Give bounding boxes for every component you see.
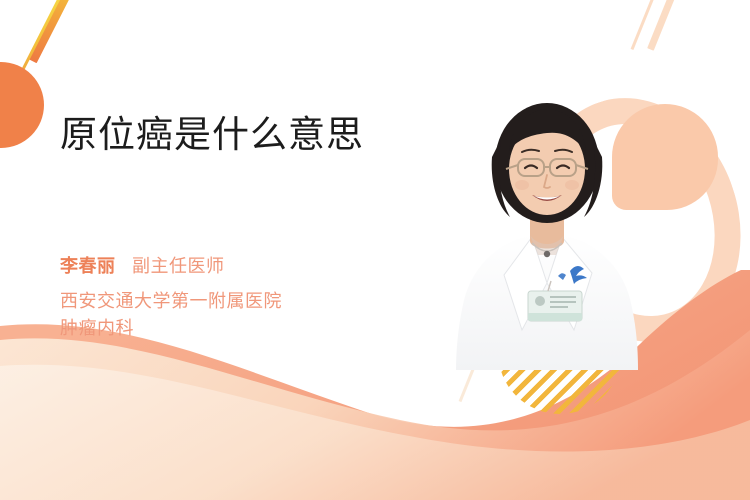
- diagonal-stripe-top-left-thick: [28, 0, 79, 63]
- orange-circle-decoration: [0, 62, 44, 148]
- doctor-hospital: 西安交通大学第一附属医院: [60, 288, 282, 315]
- doctor-department: 肿瘤内科: [60, 315, 134, 342]
- diagonal-stripe-top-left-thin: [15, 0, 67, 83]
- doctor-video-card: 原位癌是什么意思 李春丽 副主任医师 西安交通大学第一附属医院 肿瘤内科: [0, 0, 750, 500]
- page-title: 原位癌是什么意思: [60, 112, 364, 158]
- diagonal-stripe-top-right-a: [647, 0, 680, 51]
- diagonal-stripe-top-right-b: [631, 0, 660, 50]
- doctor-name: 李春丽: [60, 256, 116, 276]
- doctor-title: 副主任医师: [132, 256, 225, 276]
- doctor-credential-line: 李春丽 副主任医师: [60, 252, 224, 278]
- doctor-portrait: [452, 95, 642, 370]
